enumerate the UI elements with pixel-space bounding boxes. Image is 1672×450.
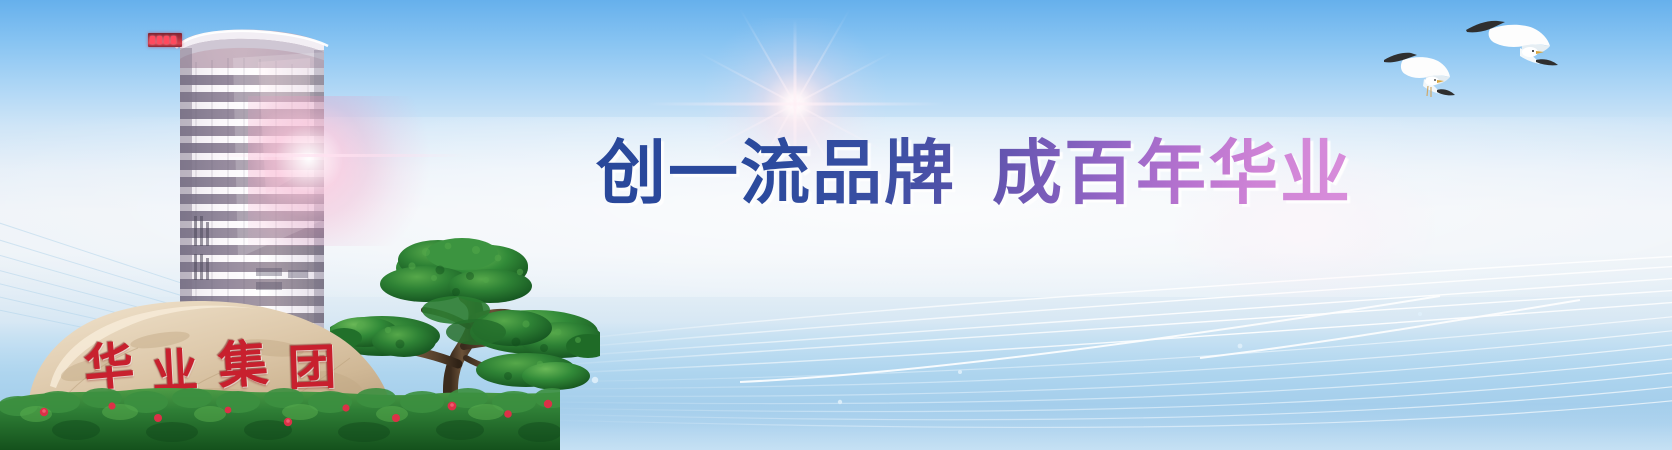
seagull-icon: [1466, 21, 1558, 66]
headline-part2: 成百年华业: [992, 138, 1352, 208]
seagull-icon-group: [1370, 2, 1560, 108]
rooftop-sign: [148, 33, 182, 47]
headline-slogan: 创一流品牌 成百年华业: [596, 131, 1352, 215]
office-tower-illustration: [138, 18, 358, 348]
hero-banner: 华 业 集 团: [0, 0, 1672, 450]
hedge-foliage: [0, 380, 560, 450]
headline-part1: 创一流品牌: [596, 138, 956, 208]
seagull-icon: [1384, 53, 1455, 97]
